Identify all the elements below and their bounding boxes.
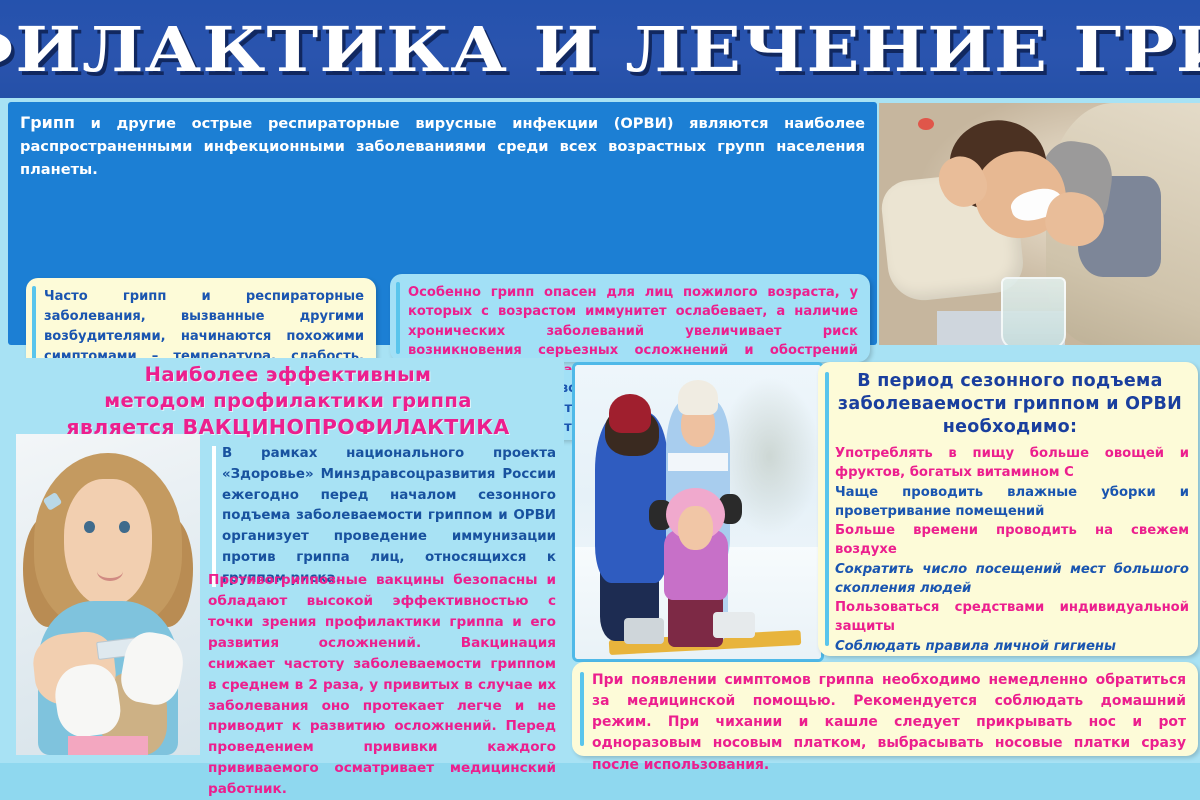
card-seasonal-tips: В период сезонного подъема заболеваемост… [818, 362, 1198, 656]
vaccination-paragraph-pink: Противогриппозные вакцины безопасны и об… [208, 570, 556, 800]
seasonal-tips-heading-line2: заболеваемости гриппом и ОРВИ [832, 393, 1188, 416]
skirt-shape [68, 736, 149, 755]
list-item: Больше времени проводить на свежем возду… [835, 521, 1189, 560]
father-hat-shape [609, 394, 651, 432]
page-title: ПРОФИЛАКТИКА И ЛЕЧЕНИЕ ГРИППА [0, 13, 1200, 86]
photo-family-skiing-in-winter [572, 362, 824, 662]
card-symptoms-action: При появлении симптомов гриппа необходим… [572, 662, 1198, 756]
vaccination-heading-line2: методом профилактики гриппа [18, 388, 558, 414]
intro-rest: и другие острые респираторные вирусные и… [20, 115, 865, 178]
seasonal-tips-heading-line1: В период сезонного подъема [832, 370, 1188, 393]
elderly-part1: Особенно [408, 285, 491, 300]
seasonal-tips-heading-line3: необходимо: [832, 416, 1188, 439]
poster-title-bar: ПРОФИЛАКТИКА И ЛЕЧЕНИЕ ГРИППА [0, 0, 1200, 98]
intro-lead: Грипп [20, 113, 75, 132]
boot-right-shape [713, 612, 755, 638]
list-item: Соблюдать правила личной гигиены [835, 637, 1189, 656]
water-glass-shape [1001, 277, 1066, 345]
intro-text: Грипп и другие острые респираторные виру… [20, 110, 865, 181]
left-edge-strip [0, 98, 8, 763]
photo-girl-receiving-vaccination [16, 434, 200, 755]
intro-panel: Грипп и другие острые респираторные виру… [8, 102, 877, 345]
photo-sick-woman-in-bed [879, 103, 1200, 345]
mother-hat-shape [678, 380, 717, 415]
vaccination-paragraph-blue-text: В рамках национального проекта «Здоровье… [222, 446, 556, 586]
accent-bar-icon [825, 372, 829, 646]
pill-shape [918, 118, 934, 130]
vaccination-heading: Наиболее эффективным методом профилактик… [18, 362, 558, 441]
vaccination-paragraph-blue: В рамках национального проекта «Здоровье… [222, 444, 556, 589]
card-symptoms-action-text: При появлении симптомов гриппа необходим… [592, 670, 1186, 776]
face-shape [64, 479, 152, 607]
poster: ПРОФИЛАКТИКА И ЛЕЧЕНИЕ ГРИППА Грипп и др… [0, 0, 1200, 763]
seasonal-tips-list: Употреблять в пищу больше овощей и фрукт… [835, 444, 1189, 656]
elderly-bold: грипп опасен [491, 285, 597, 300]
mother-stripe-shape [668, 453, 727, 471]
accent-bar-icon [396, 282, 400, 354]
list-item: Сократить число посещений мест большого … [835, 560, 1189, 599]
vaccination-heading-line1: Наиболее эффективным [18, 362, 558, 388]
accent-bar-icon [212, 446, 216, 587]
child-face-shape [678, 506, 712, 550]
seasonal-tips-heading: В период сезонного подъема заболеваемост… [832, 370, 1188, 438]
list-item: Употреблять в пищу больше овощей и фрукт… [835, 444, 1189, 483]
accent-bar-icon [580, 672, 584, 746]
card-elderly-risk: Особенно грипп опасен для лиц пожилого в… [390, 274, 870, 362]
list-item: Чаще проводить влажные уборки и проветри… [835, 483, 1189, 522]
boot-left-shape [624, 618, 663, 644]
list-item: Пользоваться средствами индивидуальной з… [835, 598, 1189, 637]
